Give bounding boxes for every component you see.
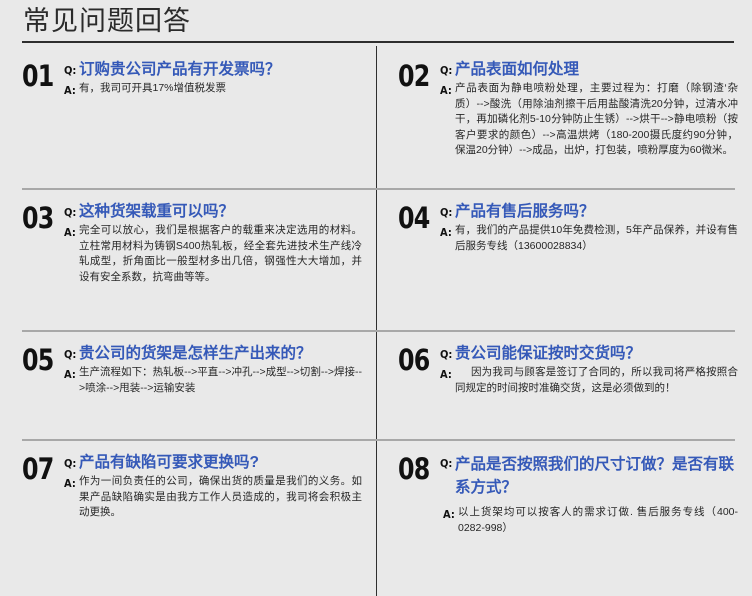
question-tag: Q: (440, 453, 454, 472)
page-title: 常见问题回答 (23, 4, 191, 38)
question-tag: Q: (64, 202, 78, 221)
faq-content: Q: 这种货架载重可以吗？ A: 完全可以放心，我们是根据客户的载重来决定选用的… (64, 202, 362, 285)
faq-question-row: Q: 产品是否按照我们的尺寸订做？是否有联系方式？ (440, 453, 738, 499)
faq-number: 01 (22, 60, 60, 91)
faq-answer-row: A: 生产流程如下：热轧板-->平直-->冲孔-->成型-->切割-->焊接--… (64, 365, 362, 396)
faq-answer-row: A: 以上货架均可以按客人的需求订做. 售后服务专线（400-0282-998） (440, 505, 738, 536)
faq-question: 贵公司的货架是怎样生产出来的？ (79, 344, 362, 364)
faq-question: 产品表面如何处理 (455, 60, 738, 80)
faq-answer-row: A: 有，我们的产品提供10年免费检测，5年产品保养，并设有售后服务专线（136… (440, 223, 738, 254)
faq-number: 05 (22, 344, 60, 375)
faq-item-04: 04 Q: 产品有售后服务吗？ A: 有，我们的产品提供10年免费检测，5年产品… (376, 188, 752, 330)
question-tag: Q: (64, 344, 78, 363)
faq-question: 产品有售后服务吗？ (455, 202, 738, 222)
faq-item-03: 03 Q: 这种货架载重可以吗？ A: 完全可以放心，我们是根据客户的载重来决定… (0, 188, 376, 330)
faq-question: 贵公司能保证按时交货吗？ (455, 344, 738, 364)
faq-content: Q: 订购贵公司产品有开发票吗？ A: 有，我司可开具17%增值税发票 (64, 60, 362, 99)
answer-tag: A: (64, 223, 78, 241)
question-tag: Q: (64, 453, 78, 472)
question-tag: Q: (64, 60, 78, 79)
faq-content: Q: 贵公司的货架是怎样生产出来的？ A: 生产流程如下：热轧板-->平直-->… (64, 344, 362, 396)
faq-answer: 产品表面为静电喷粉处理，主要过程为：打磨（除钢渣‘杂质）-->酸洗（用除油剂擦干… (455, 81, 738, 159)
faq-number: 04 (398, 202, 436, 233)
faq-question-row: Q: 这种货架载重可以吗？ (64, 202, 362, 222)
faq-answer-row: A: 完全可以放心，我们是根据客户的载重来决定选用的材料。立柱常用材料为铸钢S4… (64, 223, 362, 285)
faq-answer-row: A: 产品表面为静电喷粉处理，主要过程为：打磨（除钢渣‘杂质）-->酸洗（用除油… (440, 81, 738, 159)
faq-answer: 以上货架均可以按客人的需求订做. 售后服务专线（400-0282-998） (458, 505, 738, 536)
faq-answer-row: A: 作为一间负责任的公司，确保出货的质量是我们的义务。如果产品缺陷确实是由我方… (64, 474, 362, 521)
faq-number: 06 (398, 344, 436, 375)
faq-item-08: 08 Q: 产品是否按照我们的尺寸订做？是否有联系方式？ A: 以上货架均可以按… (376, 439, 752, 596)
faq-question: 产品有缺陷可要求更换吗? (79, 453, 362, 473)
faq-question: 产品是否按照我们的尺寸订做？是否有联系方式？ (455, 453, 738, 499)
faq-item-07: 07 Q: 产品有缺陷可要求更换吗? A: 作为一间负责任的公司，确保出货的质量… (0, 439, 376, 596)
faq-number: 08 (398, 453, 436, 484)
faq-question-row: Q: 产品有售后服务吗？ (440, 202, 738, 222)
faq-page: 常见问题回答 01 Q: 订购贵公司产品有开发票吗？ A: 有，我司可开具17%… (0, 0, 752, 596)
answer-tag: A: (440, 365, 454, 383)
faq-grid: 01 Q: 订购贵公司产品有开发票吗？ A: 有，我司可开具17%增值税发票 0… (0, 46, 752, 596)
header-underline (22, 41, 734, 43)
answer-tag: A: (440, 223, 454, 241)
answer-tag: A: (64, 474, 78, 492)
faq-item-01: 01 Q: 订购贵公司产品有开发票吗？ A: 有，我司可开具17%增值税发票 (0, 46, 376, 188)
faq-question-row: Q: 贵公司的货架是怎样生产出来的？ (64, 344, 362, 364)
faq-item-05: 05 Q: 贵公司的货架是怎样生产出来的？ A: 生产流程如下：热轧板-->平直… (0, 330, 376, 439)
faq-question: 这种货架载重可以吗？ (79, 202, 362, 222)
page-header: 常见问题回答 (0, 0, 752, 46)
faq-number: 02 (398, 60, 436, 91)
faq-number: 07 (22, 453, 60, 484)
faq-question-row: Q: 贵公司能保证按时交货吗？ (440, 344, 738, 364)
faq-content: Q: 产品有售后服务吗？ A: 有，我们的产品提供10年免费检测，5年产品保养，… (440, 202, 738, 254)
faq-answer: 作为一间负责任的公司，确保出货的质量是我们的义务。如果产品缺陷确实是由我方工作人… (79, 474, 362, 521)
answer-tag: A: (443, 505, 457, 523)
question-tag: Q: (440, 344, 454, 363)
faq-answer: 有，我们的产品提供10年免费检测，5年产品保养，并设有售后服务专线（136000… (455, 223, 738, 254)
answer-tag: A: (64, 365, 78, 383)
faq-answer: 因为我司与顾客是签订了合同的，所以我司将严格按照合同规定的时间按时准确交货，这是… (455, 365, 738, 396)
faq-question-row: Q: 产品有缺陷可要求更换吗? (64, 453, 362, 473)
faq-answer-row: A: 因为我司与顾客是签订了合同的，所以我司将严格按照合同规定的时间按时准确交货… (440, 365, 738, 396)
question-tag: Q: (440, 202, 454, 221)
faq-number: 03 (22, 202, 60, 233)
faq-content: Q: 产品是否按照我们的尺寸订做？是否有联系方式？ A: 以上货架均可以按客人的… (440, 453, 738, 536)
faq-answer: 生产流程如下：热轧板-->平直-->冲孔-->成型-->切割-->焊接-->喷涂… (79, 365, 362, 396)
faq-content: Q: 产品有缺陷可要求更换吗? A: 作为一间负责任的公司，确保出货的质量是我们… (64, 453, 362, 521)
faq-content: Q: 产品表面如何处理 A: 产品表面为静电喷粉处理，主要过程为：打磨（除钢渣‘… (440, 60, 738, 159)
faq-answer: 完全可以放心，我们是根据客户的载重来决定选用的材料。立柱常用材料为铸钢S400热… (79, 223, 362, 285)
faq-question-row: Q: 产品表面如何处理 (440, 60, 738, 80)
answer-tag: A: (440, 81, 454, 99)
faq-item-06: 06 Q: 贵公司能保证按时交货吗？ A: 因为我司与顾客是签订了合同的，所以我… (376, 330, 752, 439)
answer-tag: A: (64, 81, 78, 99)
faq-answer: 有，我司可开具17%增值税发票 (79, 81, 362, 97)
faq-item-02: 02 Q: 产品表面如何处理 A: 产品表面为静电喷粉处理，主要过程为：打磨（除… (376, 46, 752, 188)
question-tag: Q: (440, 60, 454, 79)
faq-question: 订购贵公司产品有开发票吗？ (79, 60, 362, 80)
faq-question-row: Q: 订购贵公司产品有开发票吗？ (64, 60, 362, 80)
faq-content: Q: 贵公司能保证按时交货吗？ A: 因为我司与顾客是签订了合同的，所以我司将严… (440, 344, 738, 396)
faq-answer-row: A: 有，我司可开具17%增值税发票 (64, 81, 362, 99)
